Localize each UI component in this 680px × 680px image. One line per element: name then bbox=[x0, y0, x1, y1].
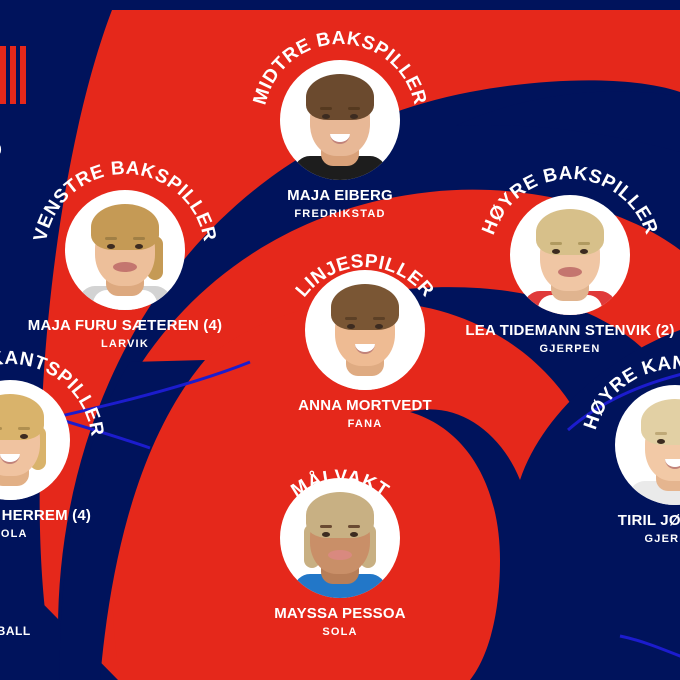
face-illustration bbox=[305, 270, 425, 390]
lineup-graphic: IES 1919 HÅNDBALL MIDTRE BAKSPILLER bbox=[0, 0, 680, 680]
player-avatar bbox=[510, 195, 630, 315]
player-card-malvakt[interactable]: MÅLVAKT MAYSSA PESSOA SOLA bbox=[225, 478, 455, 638]
player-card-hoyre-kantspiller[interactable]: HØYRE KANTSPILLER TIRIL JØRSTAD GJERPEN bbox=[560, 385, 680, 545]
player-card-midtre-bakspiller[interactable]: MIDTRE BAKSPILLER MAJA EIBERG FREDRIKSTA… bbox=[225, 60, 455, 220]
player-avatar bbox=[280, 60, 400, 180]
player-avatar bbox=[280, 478, 400, 598]
player-card-hoyre-bakspiller[interactable]: HØYRE BAKSPILLER LEA TIDEMANN STENVIK (2… bbox=[455, 195, 680, 355]
player-avatar bbox=[0, 380, 70, 500]
player-photo-wrap: LINJESPILLER bbox=[305, 270, 425, 390]
player-avatar bbox=[65, 190, 185, 310]
player-avatar bbox=[305, 270, 425, 390]
face-illustration bbox=[615, 385, 680, 505]
face-illustration bbox=[65, 190, 185, 310]
face-illustration bbox=[280, 478, 400, 598]
player-card-linjespiller[interactable]: LINJESPILLER ANNA MORTVEDT FANA bbox=[250, 270, 480, 430]
face-illustration bbox=[280, 60, 400, 180]
face-illustration bbox=[510, 195, 630, 315]
player-photo-wrap: VENSTRE BAKSPILLER bbox=[65, 190, 185, 310]
player-avatar bbox=[615, 385, 680, 505]
logo-year: 1919 bbox=[0, 143, 62, 159]
logo-bars-icon bbox=[0, 46, 26, 104]
player-photo-wrap: VENSTRE KANTSPILLER bbox=[0, 380, 70, 500]
player-card-venstre-kantspiller[interactable]: VENSTRE KANTSPILLER CAMILLA HERREM (4) S bbox=[0, 380, 125, 540]
player-card-venstre-bakspiller[interactable]: VENSTRE BAKSPILLER MAJA FURU SÆTE bbox=[10, 190, 240, 350]
bottom-left-caption: HÅNDBALL bbox=[0, 624, 31, 638]
player-photo-wrap: MÅLVAKT bbox=[280, 478, 400, 598]
player-photo-wrap: HØYRE KANTSPILLER bbox=[615, 385, 680, 505]
player-photo-wrap: MIDTRE BAKSPILLER bbox=[280, 60, 400, 180]
face-illustration bbox=[0, 380, 70, 500]
club-logo: IES 1919 bbox=[0, 28, 52, 156]
player-photo-wrap: HØYRE BAKSPILLER bbox=[510, 195, 630, 315]
logo-name: IES bbox=[0, 112, 52, 139]
